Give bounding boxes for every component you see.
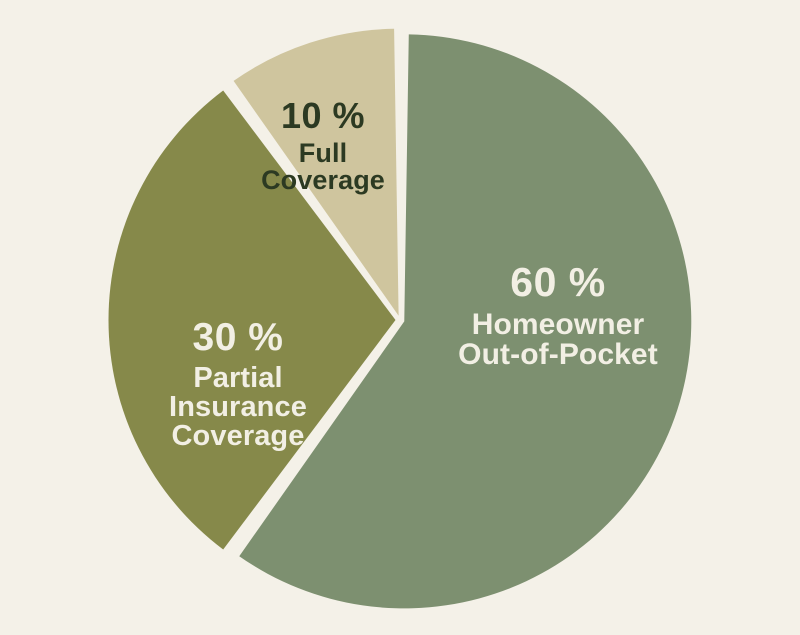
- slice-name-full-line2: Coverage: [233, 167, 413, 194]
- slice-name-homeowner-line1: Homeowner: [408, 310, 708, 340]
- slice-percent-full: 10 %: [233, 98, 413, 134]
- slice-name-full: Full Coverage: [233, 140, 413, 194]
- slice-percent-homeowner: 60 %: [408, 262, 708, 303]
- slice-percent-partial: 30 %: [128, 318, 348, 357]
- slice-label-full-coverage: 10 % Full Coverage: [233, 98, 413, 194]
- slice-label-partial-insurance-coverage: 30 % Partial Insurance Coverage: [128, 318, 348, 451]
- slice-name-partial-line1: Partial: [128, 364, 348, 393]
- slice-name-partial-line3: Coverage: [128, 422, 348, 451]
- slice-name-full-line1: Full: [233, 140, 413, 167]
- pie-chart-figure: 60 % Homeowner Out-of-Pocket 30 % Partia…: [0, 0, 800, 635]
- slice-name-homeowner: Homeowner Out-of-Pocket: [408, 310, 708, 370]
- slice-name-partial-line2: Insurance: [128, 393, 348, 422]
- slice-name-homeowner-line2: Out-of-Pocket: [408, 340, 708, 370]
- slice-name-partial: Partial Insurance Coverage: [128, 364, 348, 451]
- slice-label-homeowner-out-of-pocket: 60 % Homeowner Out-of-Pocket: [408, 262, 708, 370]
